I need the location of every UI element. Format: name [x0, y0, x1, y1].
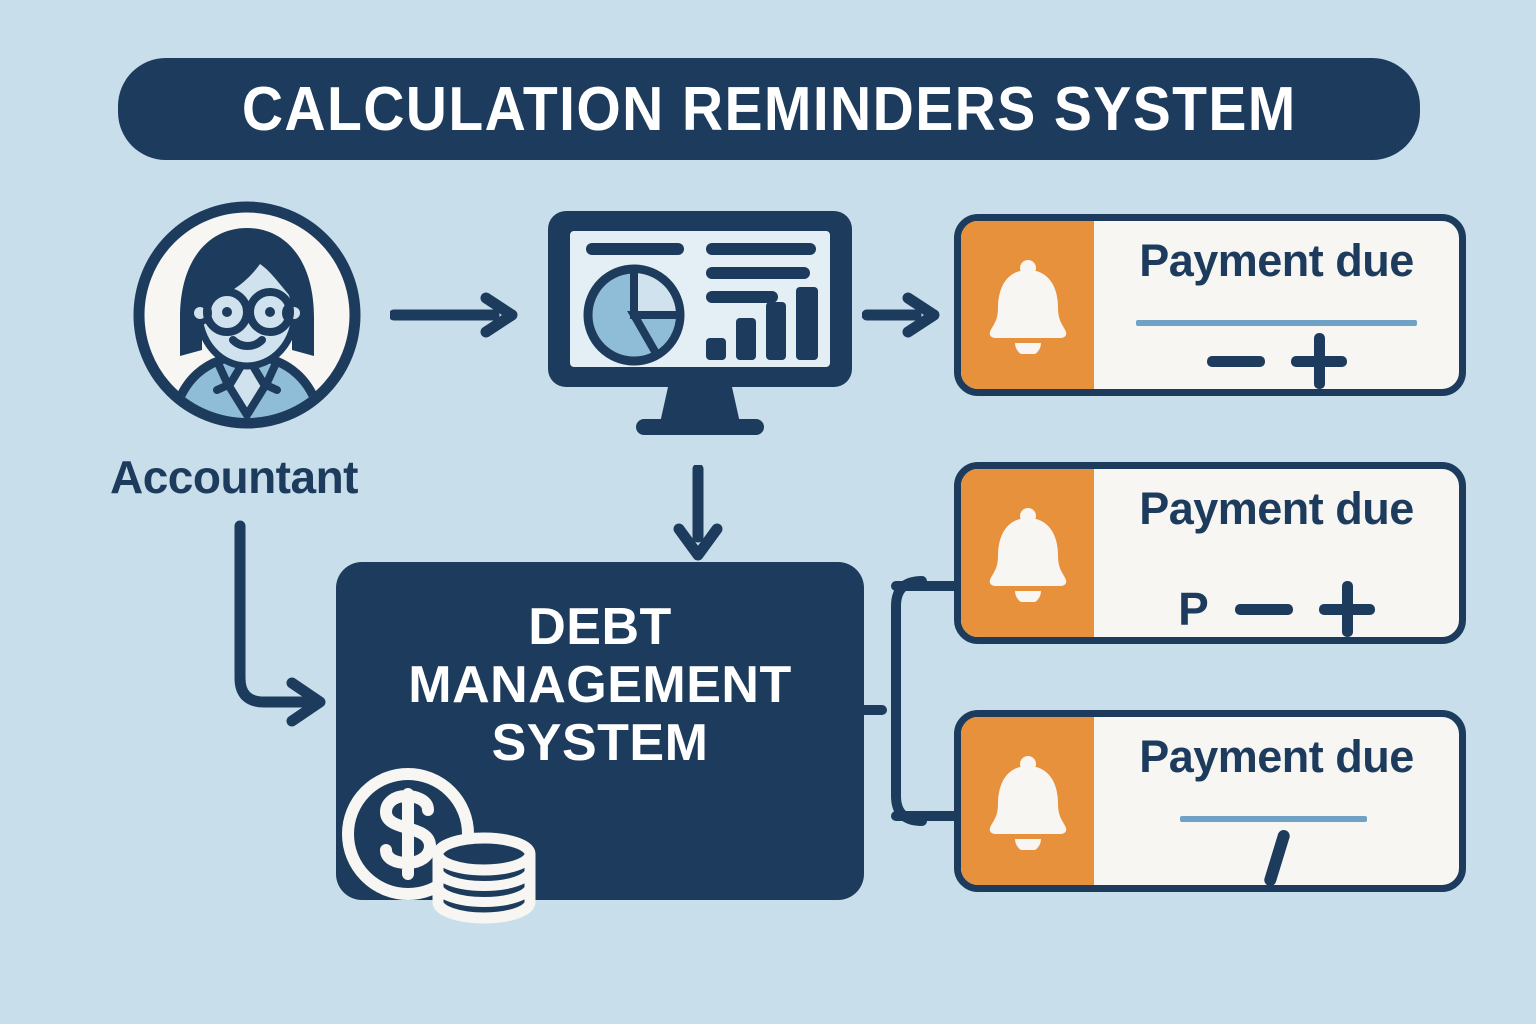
arrow-accountant-to-monitor-icon: [390, 285, 520, 345]
plus-icon[interactable]: [1319, 581, 1375, 637]
notification-card[interactable]: Payment due P: [954, 462, 1466, 644]
dms-title: DEBT MANAGEMENT SYSTEM: [336, 598, 864, 772]
plus-icon[interactable]: [1291, 333, 1347, 389]
card-title: Payment due: [1094, 483, 1459, 535]
card-icon-panel: [961, 717, 1094, 885]
card-rule: [1180, 816, 1367, 822]
page-title: CALCULATION REMINDERS SYSTEM: [242, 74, 1297, 145]
card-body: Payment due: [1094, 717, 1459, 885]
slash-icon: [1257, 829, 1297, 887]
monitor-analytics-icon: [540, 205, 860, 445]
card-rule: [1136, 320, 1417, 326]
card-body: Payment due: [1094, 221, 1459, 389]
card-glyphs: P: [1094, 581, 1459, 637]
notification-card[interactable]: Payment due: [954, 214, 1466, 396]
accountant-label: Accountant: [110, 450, 400, 504]
card-icon-panel: [961, 469, 1094, 637]
accountant-avatar-icon: [132, 200, 362, 430]
arrow-monitor-to-dms-icon: [660, 465, 736, 565]
card-title: Payment due: [1094, 235, 1459, 287]
money-coins-icon: [336, 762, 556, 927]
pie-chart-icon: [588, 269, 680, 361]
accountant-group: Accountant: [110, 200, 400, 530]
minus-icon[interactable]: [1235, 604, 1293, 615]
bell-icon: [982, 752, 1074, 850]
card-title: Payment due: [1094, 731, 1459, 783]
card-glyphs: [1094, 333, 1459, 389]
title-banner: CALCULATION REMINDERS SYSTEM: [118, 58, 1420, 160]
bell-icon: [982, 504, 1074, 602]
card-body: Payment due P: [1094, 469, 1459, 637]
arrow-monitor-to-card1-icon: [862, 285, 942, 345]
arrow-accountant-to-dms-icon: [210, 520, 340, 730]
bell-icon: [982, 256, 1074, 354]
diagram-canvas: CALCULATION REMINDERS SYSTEM: [0, 0, 1536, 1024]
card-glyphs: [1094, 829, 1459, 887]
minus-icon[interactable]: [1207, 356, 1265, 367]
card-letter-glyph: P: [1178, 586, 1209, 632]
card-icon-panel: [961, 221, 1094, 389]
notification-card[interactable]: Payment due: [954, 710, 1466, 892]
